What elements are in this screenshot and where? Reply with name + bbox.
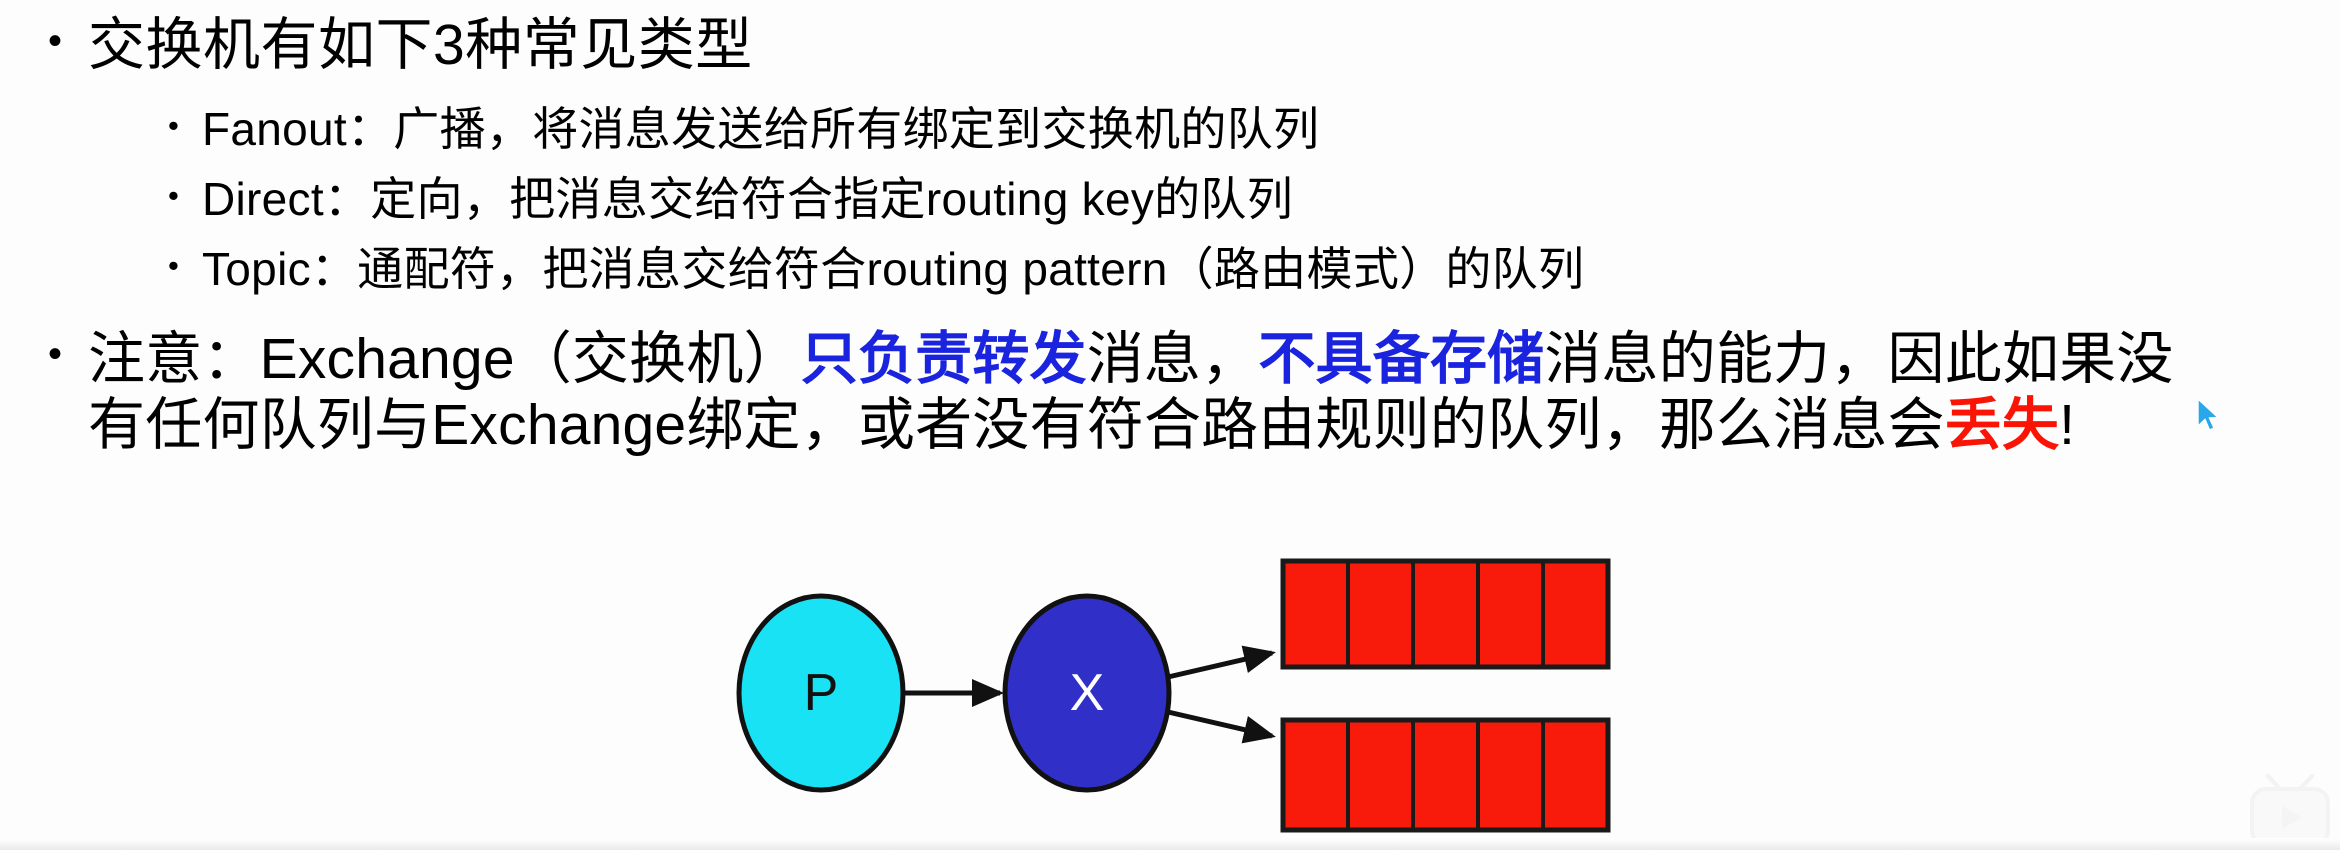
note-segment-2: 消息， — [1087, 327, 1259, 391]
queue-top — [1283, 561, 1608, 667]
note-highlight-lost: 丢失 — [1945, 393, 2059, 457]
exchange-type-topic-label: Topic：通配符，把消息交给符合routing pattern（路由模式）的队… — [202, 242, 1584, 297]
bilibili-watermark-icon — [2242, 770, 2334, 848]
exchange-type-direct-label: Direct：定向，把消息交给符合指定routing key的队列 — [202, 172, 1293, 227]
bullet-dot-icon: • — [168, 242, 202, 290]
slide-canvas: • 交换机有如下3种常见类型 • Fanout：广播，将消息发送给所有绑定到交换… — [0, 0, 2340, 850]
note-text-body: 注意：Exchange（交换机）只负责转发消息，不具备存储消息的能力，因此如果没… — [88, 326, 2203, 458]
arrow-exchange-to-queue-bottom — [1168, 712, 1272, 736]
mouse-pointer-icon — [2196, 398, 2222, 434]
page-title: 交换机有如下3种常见类型 — [88, 12, 753, 79]
bullet-item-direct: • Direct：定向，把消息交给符合指定routing key的队列 — [168, 172, 1293, 227]
bullet-item-fanout: • Fanout：广播，将消息发送给所有绑定到交换机的队列 — [168, 102, 1319, 157]
note-highlight-no-storage: 不具备存储 — [1258, 327, 1544, 391]
note-paragraph: • 注意：Exchange（交换机）只负责转发消息，不具备存储消息的能力，因此如… — [48, 326, 2203, 458]
exchange-type-fanout-label: Fanout：广播，将消息发送给所有绑定到交换机的队列 — [202, 102, 1319, 157]
bullet-dot-icon: • — [168, 102, 202, 150]
bullet-exchange-types-heading: • 交换机有如下3种常见类型 — [48, 12, 753, 79]
bullet-dot-icon: • — [168, 172, 202, 220]
frame-bottom-edge — [0, 838, 2340, 850]
note-highlight-forward-only: 只负责转发 — [801, 327, 1087, 391]
bullet-dot-icon: • — [48, 326, 88, 383]
rabbitmq-exchange-diagram: P X — [700, 540, 1620, 850]
bullet-dot-icon: • — [48, 12, 88, 70]
arrow-exchange-to-queue-top — [1168, 653, 1272, 677]
queue-bottom — [1283, 720, 1608, 830]
note-segment-4: ! — [2059, 393, 2075, 457]
bullet-item-topic: • Topic：通配符，把消息交给符合routing pattern（路由模式）… — [168, 242, 1584, 297]
note-segment-1: 注意：Exchange（交换机） — [88, 327, 801, 391]
producer-label: P — [804, 664, 839, 722]
exchange-label: X — [1070, 664, 1105, 722]
